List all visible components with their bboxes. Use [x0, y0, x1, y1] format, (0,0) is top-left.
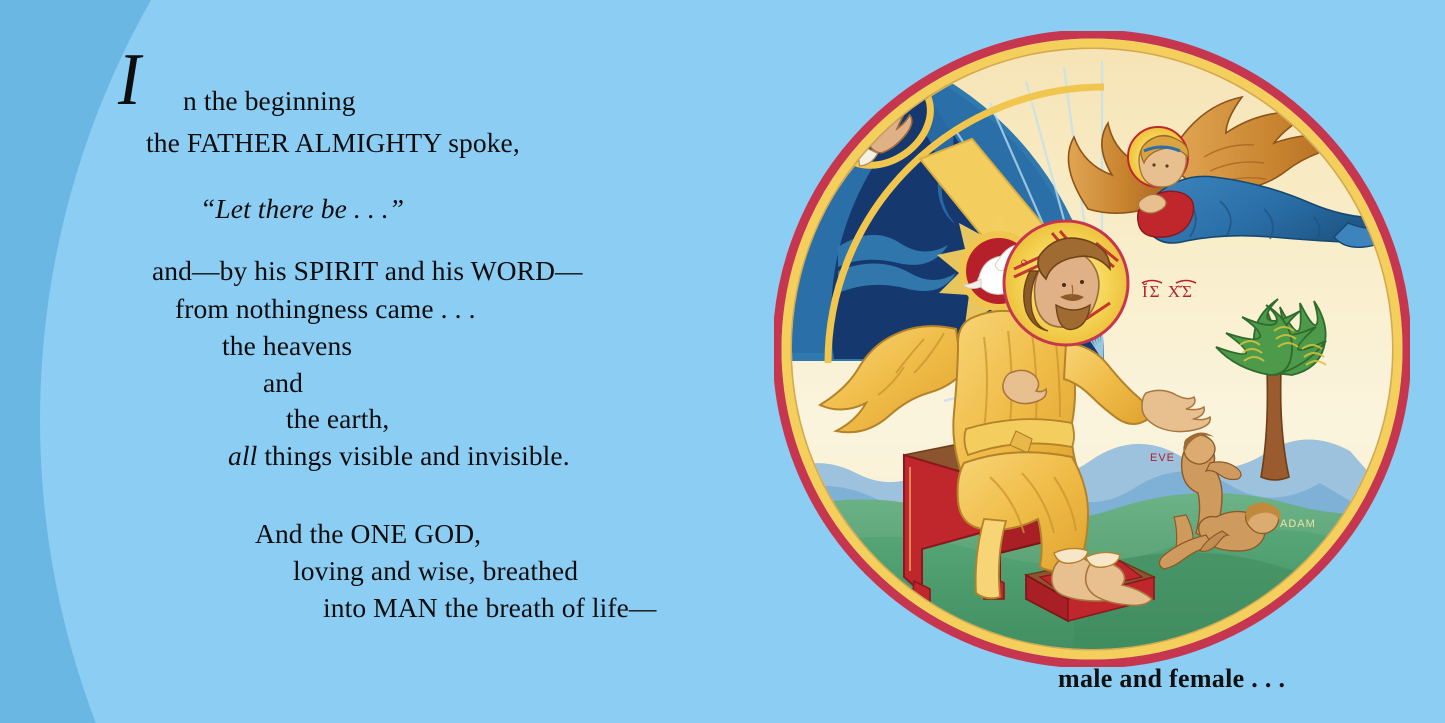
- creation-icon-roundel: ο ω ν ῘΣ Χ̆Σ: [774, 31, 1410, 667]
- poem-text-block: I n the beginning the FATHER ALMIGHTY sp…: [0, 0, 760, 723]
- poem-line-3: “Let there be . . .”: [200, 193, 404, 225]
- poem-line-9-rest: things visible and invisible.: [257, 440, 569, 471]
- adam-label: ADAM: [1280, 518, 1316, 530]
- christ-monogram-label: ῘΣ Χ̆Σ: [1142, 282, 1194, 301]
- poem-line-5: from nothingness came . . .: [175, 293, 476, 325]
- poem-line-9: all things visible and invisible.: [228, 440, 570, 472]
- poem-line-6: the heavens: [222, 330, 352, 362]
- poem-line-2: the FATHER ALMIGHTY spoke,: [146, 127, 520, 159]
- drop-cap-letter: I: [118, 43, 141, 117]
- poem-line-12: into MAN the breath of life—: [323, 592, 657, 624]
- poem-line-1: n the beginning: [183, 85, 356, 117]
- page-root: I n the beginning the FATHER ALMIGHTY sp…: [0, 0, 1445, 723]
- caption-male-and-female: male and female . . .: [1058, 664, 1285, 694]
- eve-label: EVE: [1150, 452, 1175, 464]
- poem-line-8: the earth,: [286, 403, 389, 435]
- poem-line-9-emphasis: all: [228, 440, 257, 471]
- poem-line-10: And the ONE GOD,: [255, 518, 481, 550]
- poem-line-4: and—by his SPIRIT and his WORD—: [152, 255, 583, 287]
- poem-line-11: loving and wise, breathed: [293, 555, 578, 587]
- poem-line-7: and: [263, 367, 303, 399]
